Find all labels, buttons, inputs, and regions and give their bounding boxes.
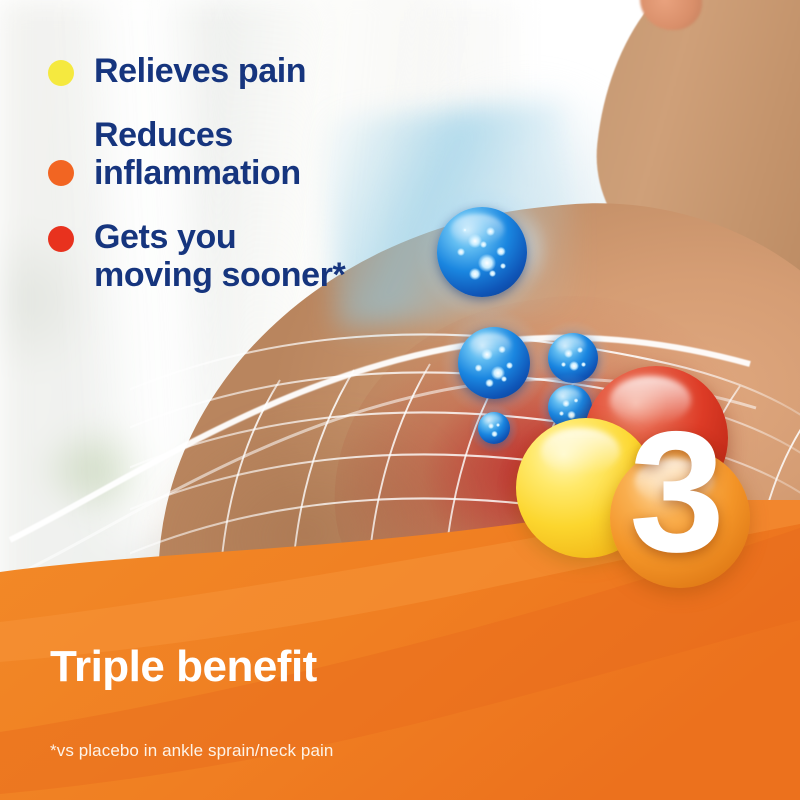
- benefit-label: Gets you moving sooner*: [94, 218, 345, 294]
- molecule-sphere-large: [437, 207, 527, 297]
- bullet-dot-yellow: [48, 60, 74, 86]
- molecule-sphere-medium: [458, 327, 530, 399]
- bullet-dot-orange: [48, 160, 74, 186]
- molecule-sphere-tiny: [478, 412, 510, 444]
- benefit-list: Relieves pain Reduces inflammation Gets …: [48, 52, 448, 320]
- benefit-item-reduces-inflammation: Reduces inflammation: [48, 116, 448, 192]
- molecule-sphere-small: [548, 333, 598, 383]
- benefit-label: Reduces inflammation: [94, 116, 301, 192]
- banner-title: Triple benefit: [50, 645, 317, 689]
- product-benefit-graphic: 3 Relieves pain Reduces inflammation: [0, 0, 800, 800]
- banner-footnote: *vs placebo in ankle sprain/neck pain: [50, 741, 333, 761]
- bullet-dot-red: [48, 226, 74, 252]
- benefit-item-gets-you-moving-sooner: Gets you moving sooner*: [48, 218, 448, 294]
- benefit-item-relieves-pain: Relieves pain: [48, 52, 448, 90]
- benefit-label: Relieves pain: [94, 52, 306, 90]
- badge-number: 3: [600, 402, 750, 582]
